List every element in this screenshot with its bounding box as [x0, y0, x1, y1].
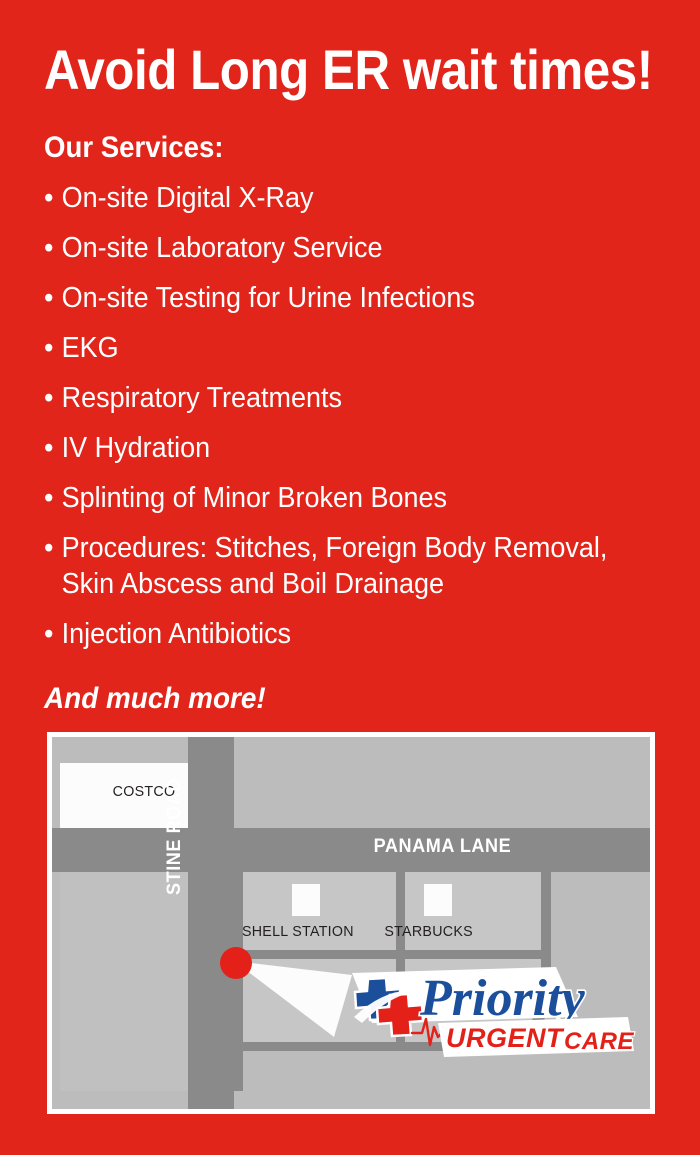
parcel-west — [60, 866, 188, 1091]
bullet-icon: • — [44, 280, 53, 316]
flyer-root: Avoid Long ER wait times! Our Services: … — [0, 0, 700, 1155]
map-label-shell-station: SHELL STATION — [242, 923, 354, 940]
minor-road-horizontal-upper — [234, 950, 546, 959]
logo-word-care: CARE — [564, 1028, 634, 1055]
page-title: Avoid Long ER wait times! — [44, 40, 607, 100]
bullet-icon: • — [44, 530, 53, 566]
map-canvas: COSTCO PANAMA LANE STINE ROAD SHELL STAT… — [52, 737, 650, 1109]
panama-lane-road — [52, 828, 650, 872]
location-map: COSTCO PANAMA LANE STINE ROAD SHELL STAT… — [47, 732, 655, 1114]
list-item-label: On-site Laboratory Service — [62, 232, 383, 264]
logo-word-priority: Priority — [419, 970, 586, 1027]
list-item: • EKG — [44, 330, 628, 366]
map-label-starbucks: STARBUCKS — [384, 923, 473, 940]
list-item-label: On-site Testing for Urine Infections — [62, 282, 475, 314]
list-item-label: Procedures: Stitches, Foreign Body Remov… — [62, 532, 608, 600]
map-label-panama-lane: PANAMA LANE — [374, 836, 512, 858]
logo-graphics: Priority URGENT CARE — [342, 961, 640, 1057]
list-item: • On-site Testing for Urine Infections — [44, 280, 628, 316]
list-item: • Splinting of Minor Broken Bones — [44, 480, 628, 516]
bullet-icon: • — [44, 330, 53, 366]
bullet-icon: • — [44, 230, 53, 266]
logo-word-urgent: URGENT — [446, 1023, 565, 1053]
bullet-icon: • — [44, 380, 53, 416]
list-item-label: IV Hydration — [62, 432, 210, 464]
location-pin-dot — [220, 947, 252, 979]
list-item: • Procedures: Stitches, Foreign Body Rem… — [44, 530, 628, 602]
bullet-icon: • — [44, 616, 53, 652]
list-item-label: Injection Antibiotics — [62, 618, 291, 650]
list-item-label: Respiratory Treatments — [62, 382, 342, 414]
stine-road-road — [188, 737, 234, 1109]
services-heading: Our Services: — [44, 131, 224, 165]
services-list: • On-site Digital X-Ray • On-site Labora… — [44, 180, 672, 652]
bullet-icon: • — [44, 480, 53, 516]
list-item-label: EKG — [62, 332, 119, 364]
list-item: • IV Hydration — [44, 430, 628, 466]
and-much-more-text: And much more! — [44, 682, 266, 716]
map-label-stine-road: STINE ROAD — [164, 778, 186, 895]
list-item-label: On-site Digital X-Ray — [62, 182, 314, 214]
list-item: • On-site Laboratory Service — [44, 230, 628, 266]
list-item: • On-site Digital X-Ray — [44, 180, 628, 216]
bullet-icon: • — [44, 430, 53, 466]
list-item: • Respiratory Treatments — [44, 380, 628, 416]
list-item: • Injection Antibiotics — [44, 616, 628, 652]
list-item-label: Splinting of Minor Broken Bones — [62, 482, 447, 514]
priority-urgent-care-logo: Priority URGENT CARE — [342, 961, 640, 1057]
bullet-icon: • — [44, 180, 53, 216]
